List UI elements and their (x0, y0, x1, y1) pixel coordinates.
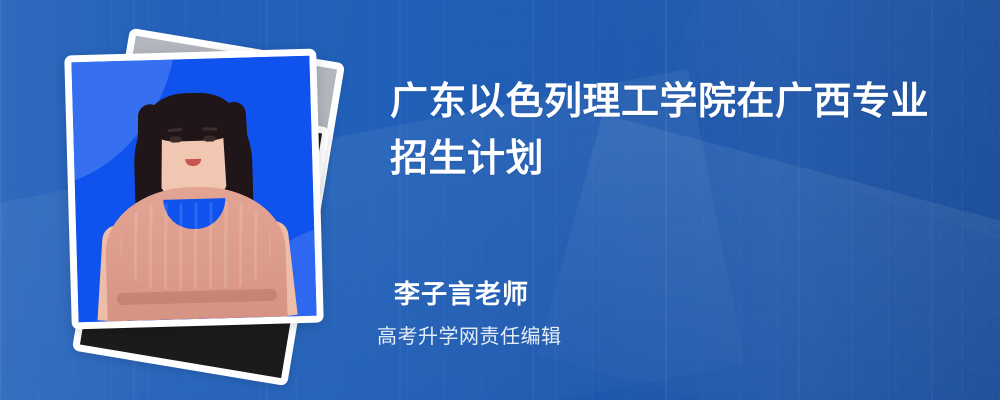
page-title: 广东以色列理工学院在广西专业招生计划 (390, 74, 950, 188)
photo-card-stack (46, 30, 346, 370)
portrait-eye-right (204, 135, 216, 141)
author-name: 李子言老师 (394, 274, 529, 311)
text-column: 广东以色列理工学院在广西专业招生计划 李子言老师 高考升学网责任编辑 (372, 0, 972, 400)
portrait-dress-folds (119, 201, 271, 291)
portrait-figure (71, 56, 316, 323)
article-cover-banner: 广东以色列理工学院在广西专业招生计划 李子言老师 高考升学网责任编辑 (0, 0, 1000, 400)
author-role: 高考升学网责任编辑 (377, 320, 562, 349)
portrait-eye-left (170, 136, 182, 142)
portrait-eyebrow-right (202, 127, 217, 131)
front-portrait-card (64, 49, 324, 330)
